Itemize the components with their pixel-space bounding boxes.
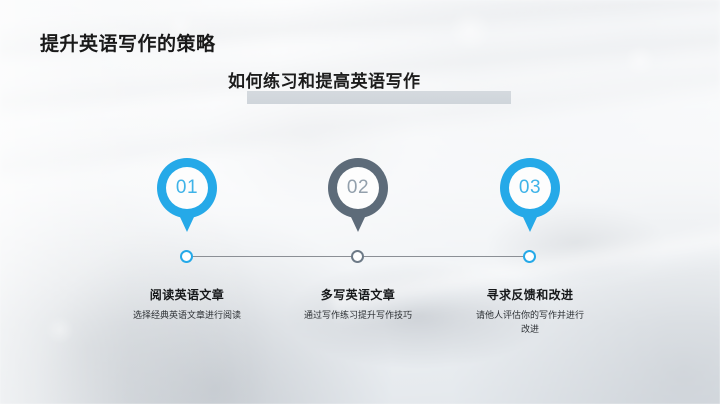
step-marker-1[interactable]: 01	[157, 158, 217, 236]
step-marker-2[interactable]: 02	[328, 158, 388, 236]
subtitle-underline-bar	[247, 91, 511, 104]
timeline-node-3	[523, 250, 536, 263]
step-description-2: 通过写作练习提升写作技巧	[268, 308, 448, 322]
step-heading-2: 多写英语文章	[268, 286, 448, 303]
step-content-1: 阅读英语文章 选择经典英语文章进行阅读	[97, 286, 277, 322]
timeline-node-2	[351, 250, 364, 263]
page-title: 提升英语写作的策略	[40, 29, 216, 56]
step-marker-3[interactable]: 03	[500, 158, 560, 236]
slide-canvas: 提升英语写作的策略 如何练习和提高英语写作 01 02 03 阅读英语文章 选择…	[0, 0, 720, 404]
step-heading-3: 寻求反馈和改进	[440, 286, 620, 303]
step-number-3: 03	[509, 167, 551, 209]
step-content-3: 寻求反馈和改进 请他人评估你的写作并进行改进	[440, 286, 620, 336]
step-description-1: 选择经典英语文章进行阅读	[97, 308, 277, 322]
step-number-2: 02	[337, 167, 379, 209]
page-subtitle: 如何练习和提高英语写作	[228, 67, 421, 92]
step-description-3: 请他人评估你的写作并进行改进	[440, 308, 620, 336]
step-heading-1: 阅读英语文章	[97, 286, 277, 303]
step-number-1: 01	[166, 167, 208, 209]
step-content-2: 多写英语文章 通过写作练习提升写作技巧	[268, 286, 448, 322]
timeline-node-1	[180, 250, 193, 263]
